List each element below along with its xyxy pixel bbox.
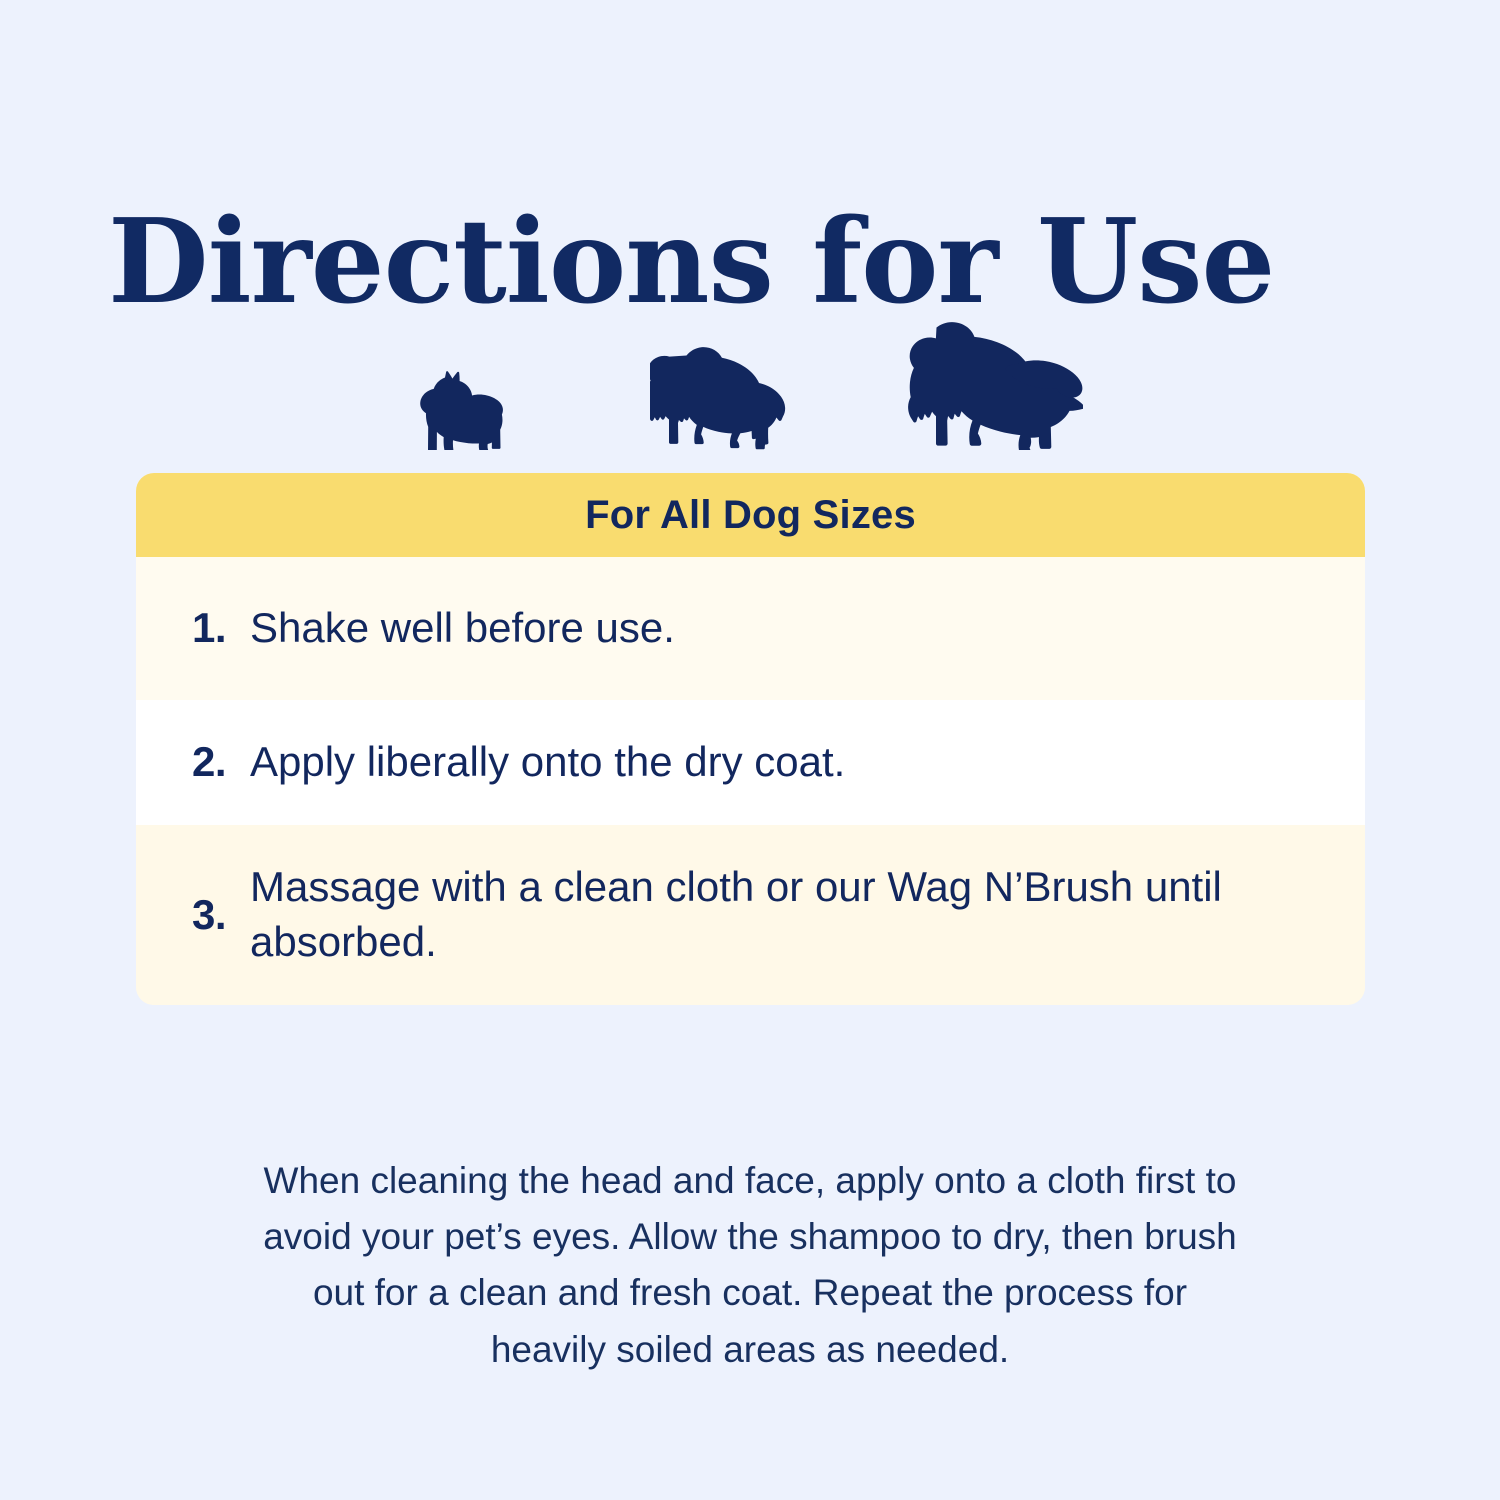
dog-large-silhouette-icon: [893, 322, 1083, 450]
step-number-2: 2.: [192, 735, 250, 790]
step-text-3: Massage with a clean cloth or our Wag N’…: [250, 860, 1309, 969]
step-item-1: 1. Shake well before use.: [136, 557, 1365, 700]
footer-note-line-2: avoid your pet’s eyes. Allow the shampoo…: [210, 1209, 1290, 1265]
step-item-3: 3. Massage with a clean cloth or our Wag…: [136, 825, 1365, 1005]
step-number-3: 3.: [192, 888, 250, 943]
step-item-2: 2. Apply liberally onto the dry coat.: [136, 700, 1365, 825]
footer-note-line-3: out for a clean and fresh coat. Repeat t…: [210, 1265, 1290, 1321]
footer-note-line-4: heavily soiled areas as needed.: [210, 1322, 1290, 1378]
footer-note-line-1: When cleaning the head and face, apply o…: [210, 1153, 1290, 1209]
directions-for-use-page: Directions for Use For All Dog Sizes: [0, 0, 1500, 1500]
step-text-1: Shake well before use.: [250, 601, 1309, 656]
directions-card: For All Dog Sizes 1. Shake well before u…: [136, 473, 1365, 1005]
dog-medium-silhouette-icon: [650, 346, 790, 450]
steps-list: 1. Shake well before use. 2. Apply liber…: [136, 557, 1365, 1005]
dog-small-silhouette-icon: [418, 370, 518, 450]
card-header-title: For All Dog Sizes: [585, 493, 916, 538]
dog-size-illustration-row: [0, 300, 1500, 450]
step-number-1: 1.: [192, 601, 250, 656]
card-header: For All Dog Sizes: [136, 473, 1365, 557]
step-text-2: Apply liberally onto the dry coat.: [250, 735, 1309, 790]
footer-note: When cleaning the head and face, apply o…: [210, 1153, 1290, 1378]
